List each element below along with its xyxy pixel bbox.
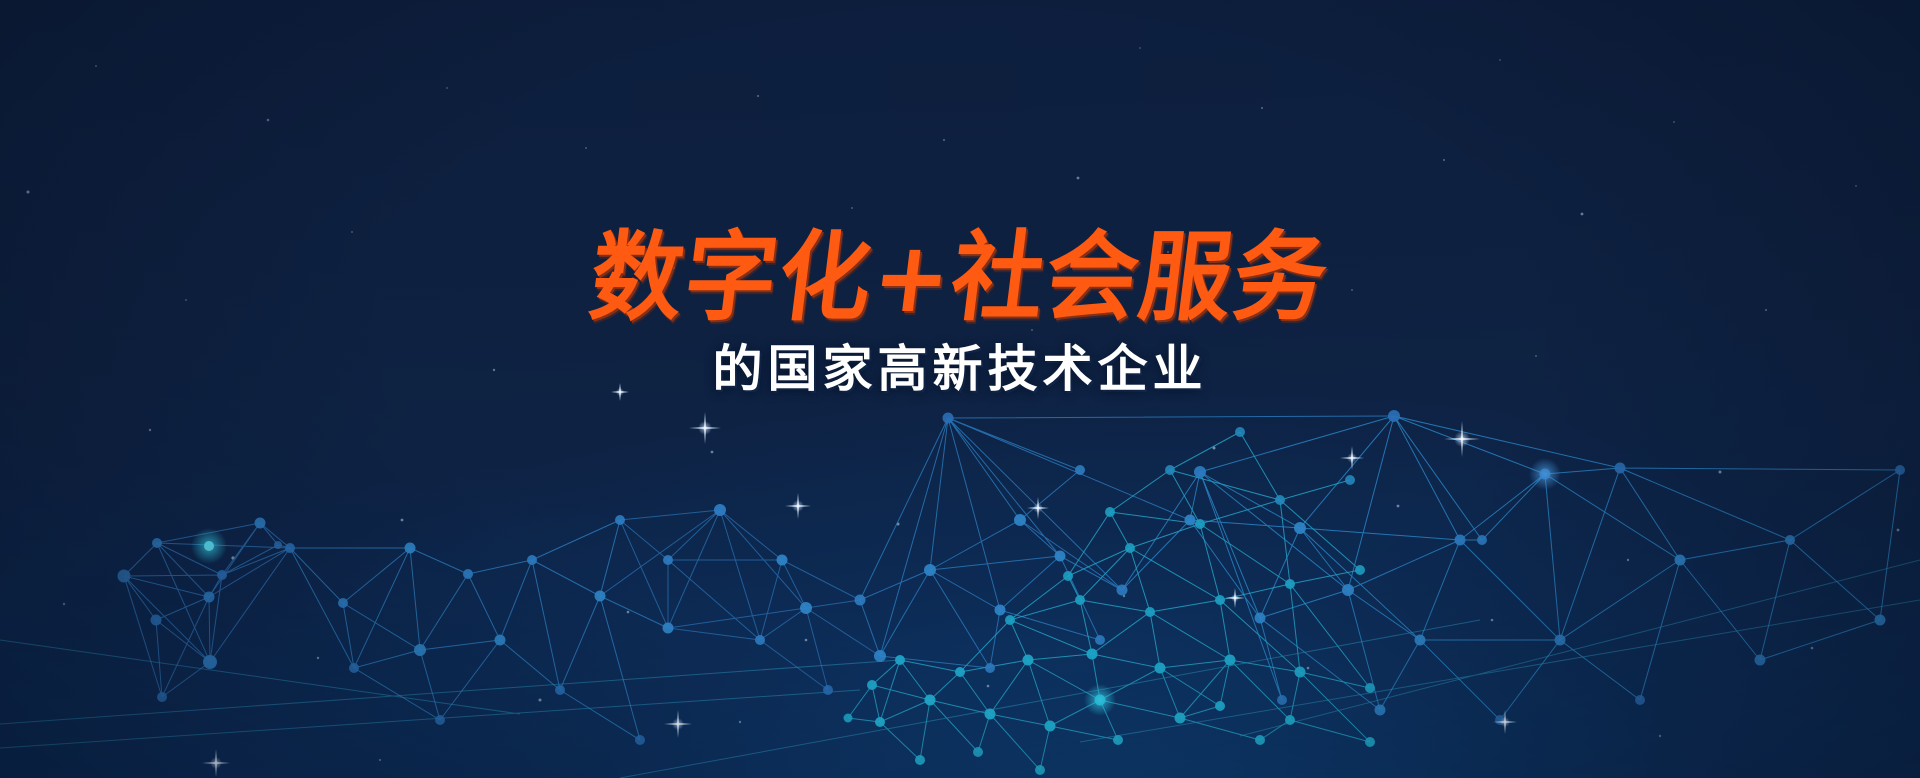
hero-banner: 数字化+社会服务 的国家高新技术企业 bbox=[0, 0, 1920, 778]
network-edges-right bbox=[1122, 416, 1900, 720]
starfield-dots bbox=[27, 47, 1900, 761]
constellation-network-graphic bbox=[0, 0, 1920, 778]
network-edges-top-fan bbox=[600, 510, 880, 690]
network-nodes-cyan bbox=[844, 427, 1376, 775]
sparkle-stars bbox=[202, 383, 1517, 777]
